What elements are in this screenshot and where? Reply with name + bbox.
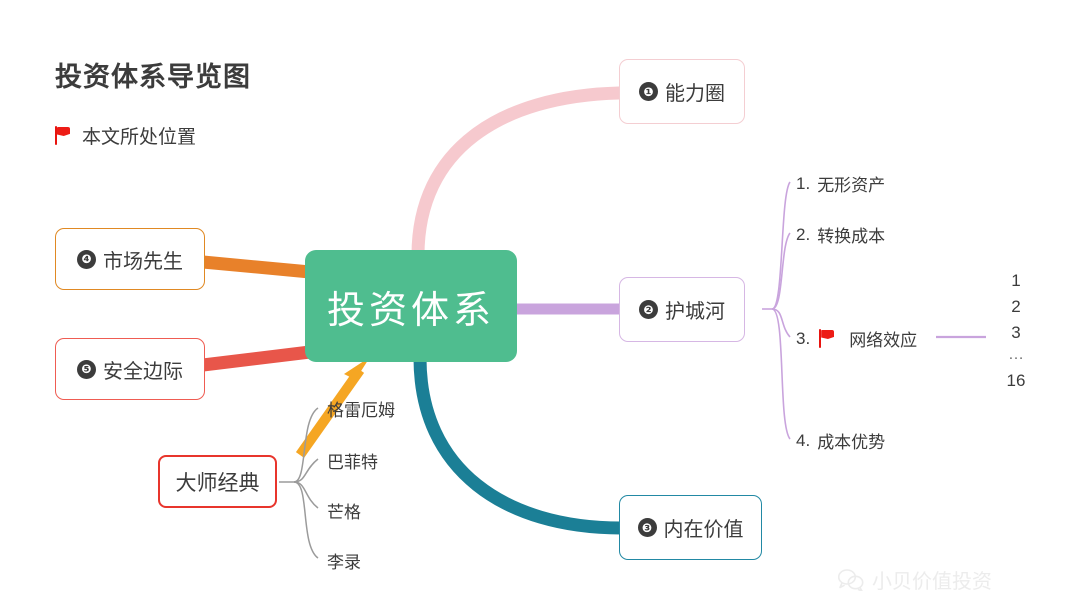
node-1-bullet: ❶	[639, 82, 658, 101]
connector-to-intrinsic-value	[420, 358, 621, 528]
node-3-bullet: ❸	[638, 518, 657, 537]
mindmap-canvas: 投资体系导览图 本文所处位置 投资体系 ❶ 能力圈 ❷ 护城河 ❸ 内在价值 ❹…	[0, 0, 1080, 615]
connector-to-margin-of-safety	[203, 352, 310, 365]
node-5-bullet: ❺	[77, 360, 96, 379]
article-number-3[interactable]: 3	[1011, 320, 1020, 346]
master-fan-to-master-4	[294, 482, 318, 558]
watermark-text: 小贝价值投资	[872, 565, 992, 594]
node-margin-of-safety[interactable]: ❺ 安全边际	[55, 338, 205, 400]
master-item-3[interactable]: 芒格	[327, 498, 361, 523]
node-master-classics[interactable]: 大师经典	[158, 455, 277, 508]
node-intrinsic-value[interactable]: ❸ 内在价值	[619, 495, 762, 560]
moat-item-4-index: 4.	[796, 431, 810, 451]
node-3-label: 内在价值	[664, 513, 744, 542]
master-fan-to-master-1	[294, 408, 318, 482]
node-master-label: 大师经典	[176, 467, 260, 497]
moat-fan-to-item-3	[772, 309, 790, 337]
node-mr-market[interactable]: ❹ 市场先生	[55, 228, 205, 290]
legend: 本文所处位置	[55, 122, 196, 149]
node-4-bullet: ❹	[77, 250, 96, 269]
page-title: 投资体系导览图	[55, 55, 251, 94]
master-item-2[interactable]: 巴菲特	[327, 448, 378, 473]
moat-item-3-label: 网络效应	[849, 326, 917, 351]
node-1-label: 能力圈	[665, 77, 725, 106]
moat-item-2[interactable]: 2. 转换成本	[796, 222, 885, 247]
master-fan-to-master-2	[294, 459, 318, 482]
master-item-1[interactable]: 格雷厄姆	[327, 396, 395, 421]
moat-item-1-label: 无形资产	[817, 171, 885, 196]
article-number-2[interactable]: 2	[1011, 294, 1020, 320]
node-moat[interactable]: ❷ 护城河	[619, 277, 745, 342]
moat-item-1[interactable]: 1. 无形资产	[796, 171, 885, 196]
node-center-label: 投资体系	[327, 279, 495, 334]
node-2-label: 护城河	[665, 295, 725, 324]
node-4-label: 市场先生	[103, 245, 183, 274]
red-flag-icon	[55, 126, 71, 145]
article-number-list: 1 2 3 … 16	[994, 268, 1038, 394]
node-5-label: 安全边际	[103, 355, 183, 384]
article-number-ellipsis: …	[1008, 346, 1024, 368]
moat-fan-to-item-2	[772, 233, 790, 309]
moat-item-4-label: 成本优势	[817, 428, 885, 453]
node-2-bullet: ❷	[639, 300, 658, 319]
moat-item-4[interactable]: 4. 成本优势	[796, 428, 885, 453]
moat-fan-to-item-4	[772, 309, 790, 439]
moat-item-2-label: 转换成本	[817, 222, 885, 247]
connector-to-capability-circle	[418, 93, 619, 255]
watermark: 小贝价值投资	[838, 565, 992, 594]
article-number-16[interactable]: 16	[1007, 368, 1026, 394]
node-investment-system[interactable]: 投资体系	[305, 250, 517, 362]
moat-item-3[interactable]: 3. 网络效应	[796, 326, 917, 351]
connector-to-mr-market	[203, 262, 310, 272]
wechat-icon	[838, 569, 864, 591]
article-number-1[interactable]: 1	[1011, 268, 1020, 294]
master-fan-to-master-3	[294, 482, 318, 508]
moat-item-3-index: 3.	[796, 329, 810, 349]
legend-label: 本文所处位置	[82, 122, 196, 149]
node-capability-circle[interactable]: ❶ 能力圈	[619, 59, 745, 124]
red-flag-icon	[819, 329, 835, 348]
master-item-4[interactable]: 李录	[327, 548, 361, 573]
moat-fan-to-item-1	[772, 182, 790, 309]
moat-item-2-index: 2.	[796, 225, 810, 245]
moat-item-1-index: 1.	[796, 174, 810, 194]
